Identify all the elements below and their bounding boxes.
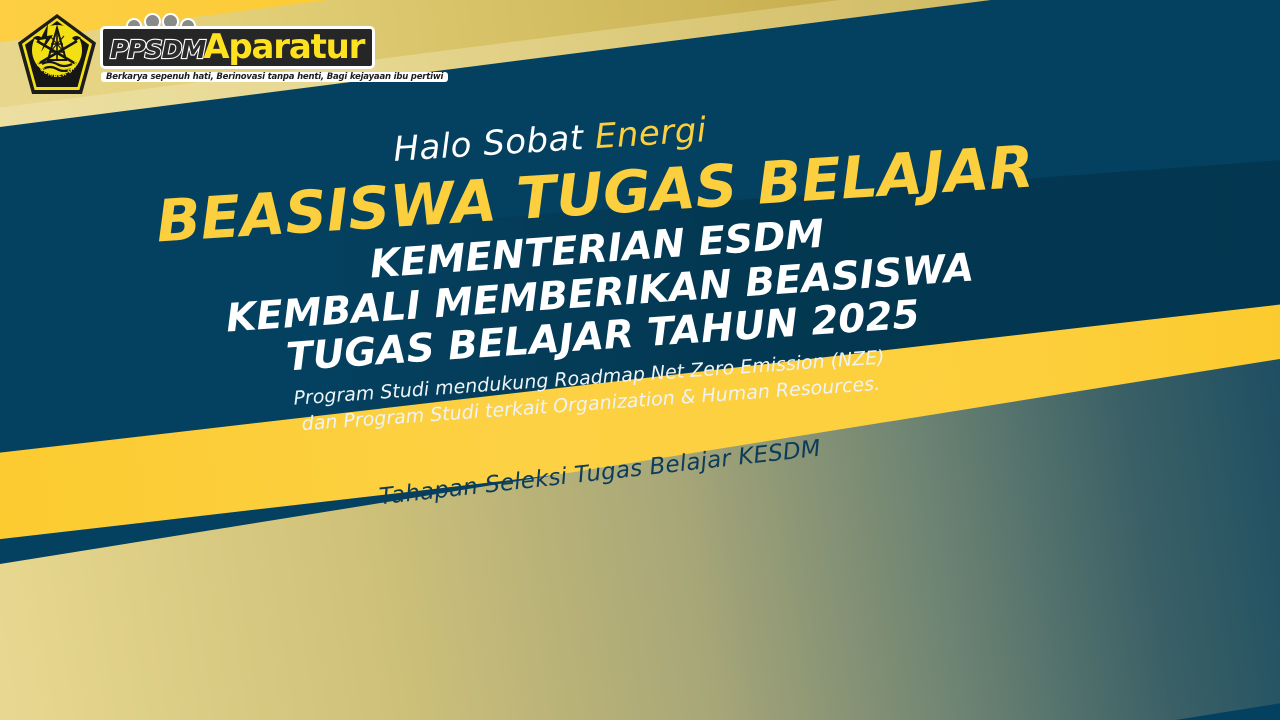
brand-name-row: PPSDM Aparatur <box>100 26 375 69</box>
brand-logo-lockup: ENERGI DAN SUMBER DAYA MINERAL PPSDM Apa… <box>18 14 448 94</box>
brand-tagline: Berkarya sepenuh hati, Berinovasi tanpa … <box>101 72 448 83</box>
esdm-ministry-crest-icon: ENERGI DAN SUMBER DAYA MINERAL <box>18 14 96 94</box>
brand-name-prefix: PPSDM <box>110 37 205 62</box>
greeting-highlight-text: Energi <box>594 110 708 157</box>
brand-name-main: Aparatur <box>203 30 364 64</box>
ppsdm-aparatur-wordmark: PPSDM Aparatur Berkarya sepenuh hati, Be… <box>100 26 448 83</box>
promotional-banner: ENERGI DAN SUMBER DAYA MINERAL PPSDM Apa… <box>0 0 1280 720</box>
